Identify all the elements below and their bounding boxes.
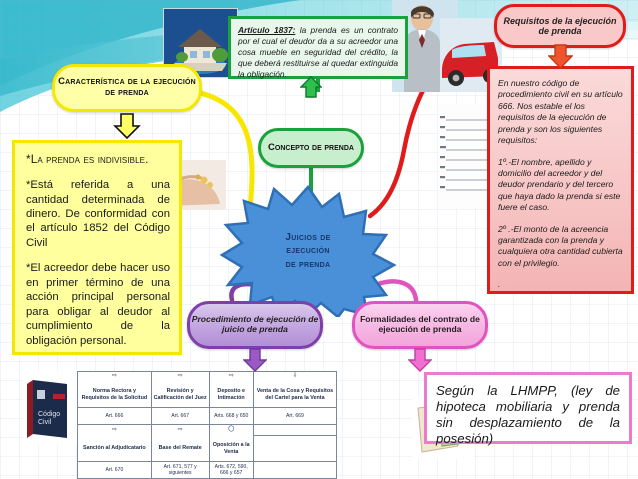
table-article-8 [253, 462, 336, 479]
table-article-2: Art. 667 [151, 408, 209, 425]
panel-lhmpp-text: Según la LHMPP, (ley de hipoteca mobilia… [424, 372, 632, 444]
articulo-heading: Artículo 1837: [238, 25, 295, 35]
lhmpp-text: Según la LHMPP, (ley de hipoteca mobilia… [436, 383, 620, 446]
requisitos-item-1: 1º.-El nombre, apellido y domicilio del … [498, 157, 623, 214]
table-article-5: Art. 670 [78, 462, 152, 479]
svg-text:Código: Código [38, 411, 60, 418]
table-header-6: Base del Remate [151, 436, 209, 462]
node-procedimiento-ejecucion-juicio-prenda[interactable]: Procedimiento de ejecución de juicio de … [187, 301, 323, 349]
panel-requisitos-text: En nuestro código de procedimiento civil… [487, 66, 634, 294]
arrow-down-icon-caracteristica [113, 112, 141, 140]
table-header-2: Revisión y Calificación del Juez [151, 382, 209, 407]
table-icon-8 [253, 424, 336, 435]
node-formalidades-contrato-ejecucion-prenda[interactable]: Formalidades del contrato de ejecución d… [352, 301, 488, 349]
table-article-7: Arts. 672, 590, 666 y 657 [209, 462, 253, 479]
table-icon-6: ⇨ [151, 424, 209, 435]
table-header-7: Oposición a la Venta [209, 436, 253, 462]
table-row-headers-1: Norma Rectora y Requisitos de la Solicit… [78, 382, 337, 407]
table-header-8 [253, 436, 336, 462]
node-procedimiento-label: Procedimiento de ejecución de juicio de … [190, 315, 320, 334]
node-concepto-prenda[interactable]: Concepto de prenda [258, 128, 364, 168]
table-row-icons-2: ⇨ ⇨ 〇 [78, 424, 337, 435]
procedimiento-steps-table: ⇨ ⇨ ⇨ ⇩ Norma Rectora y Requisitos de la… [77, 371, 337, 479]
requisitos-intro: En nuestro código de procedimiento civil… [498, 78, 623, 147]
node-requisitos-label: Requisitos de la ejecución de prenda [497, 16, 623, 36]
node-caracteristica-ejecucion-prenda[interactable]: Característica de la ejecución de prenda [52, 64, 202, 112]
table-icon-7: 〇 [209, 424, 253, 435]
node-requisitos-ejecucion-prenda[interactable]: Requisitos de la ejecución de prenda [494, 4, 626, 48]
table-header-4: Venta de la Cosa y Requisitos del Cartel… [253, 382, 336, 407]
table-row-articles-2: Art. 670 Art. 671, 577 y siguientes Arts… [78, 462, 337, 479]
requisitos-item-2: 2º .-El monto de la acreencia garantizad… [498, 224, 623, 270]
table-icon-2: ⇨ [151, 372, 209, 383]
svg-text:Civil: Civil [38, 419, 52, 426]
table-row-icons-1: ⇨ ⇨ ⇨ ⇩ [78, 372, 337, 383]
node-caracteristica-label: Característica de la ejecución de prenda [55, 77, 199, 98]
table-article-1: Art. 666 [78, 408, 152, 425]
arrow-down-icon-requisitos [548, 44, 573, 69]
table-icon-1: ⇨ [78, 372, 152, 383]
arrow-down-icon-procedimiento [243, 348, 267, 372]
table-icon-4: ⇩ [253, 372, 336, 383]
arrow-down-icon-formalidades [408, 348, 432, 372]
central-node-juicios-ejecucion-prenda[interactable]: Juicios de ejecución de prenda [218, 185, 398, 317]
caracteristica-first-line: *La prenda es indivisible. [26, 152, 170, 167]
table-article-3: Arts. 668 y 650 [209, 408, 253, 425]
panel-articulo-1837: Artículo 1837: la prenda es un contrato … [228, 16, 408, 79]
table-row-headers-2: Sanción al Adjudicatario Base del Remate… [78, 436, 337, 462]
arrow-up-icon-concepto [300, 76, 322, 98]
table-row-articles-1: Art. 666 Art. 667 Arts. 668 y 650 Art. 6… [78, 408, 337, 425]
table-icon-5: ⇨ [78, 424, 152, 435]
node-concepto-label: Concepto de prenda [261, 143, 361, 154]
codigo-civil-book-image: Código Civil [23, 372, 78, 444]
table-header-5: Sanción al Adjudicatario [78, 436, 152, 462]
caracteristica-paragraph-1: *Está referida a una cantidad determinad… [26, 178, 170, 250]
table-header-3: Deposito e Intimación [209, 382, 253, 407]
node-formalidades-label: Formalidades del contrato de ejecución d… [355, 315, 485, 334]
requisitos-item-3: . [498, 279, 623, 290]
panel-caracteristica-text: *La prenda es indivisible. *Está referid… [12, 140, 182, 355]
star-shape [218, 185, 398, 317]
table-header-1: Norma Rectora y Requisitos de la Solicit… [78, 382, 152, 407]
table-article-6: Art. 671, 577 y siguientes [151, 462, 209, 479]
caracteristica-paragraph-2: *El acreedor debe hacer uso en primer té… [26, 261, 170, 348]
table-icon-3: ⇨ [209, 372, 253, 383]
table-article-4: Art. 669 [253, 408, 336, 425]
